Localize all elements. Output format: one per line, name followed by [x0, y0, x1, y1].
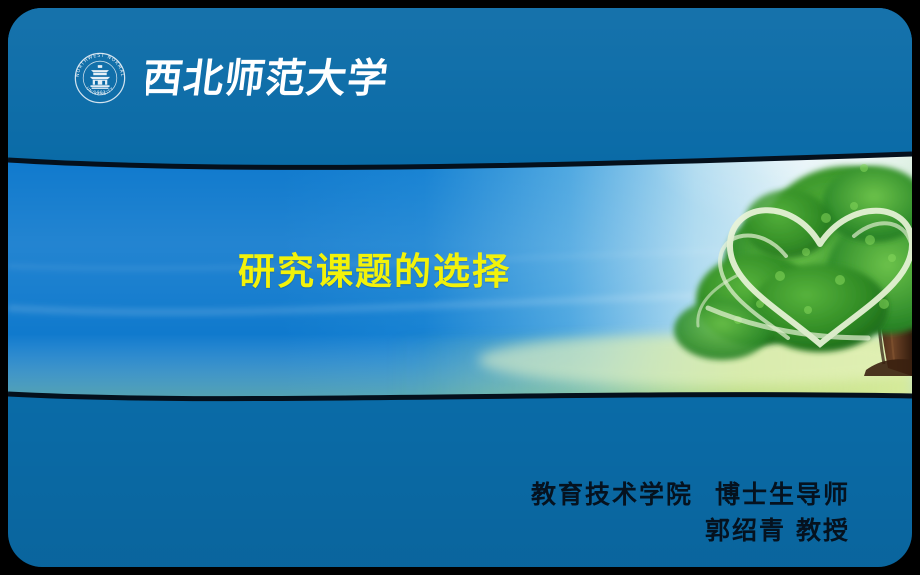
university-wordmark: 西北师范大学: [146, 50, 396, 106]
wordmark-text: 西北师范大学: [146, 56, 391, 102]
credits-department: 教育技术学院: [531, 480, 693, 509]
seal-year-text: 1902: [94, 90, 106, 95]
credits-role: 博士生导师: [715, 480, 850, 509]
band-artwork: [8, 58, 912, 428]
wordmark-svg: 西北师范大学: [146, 50, 396, 106]
credits-title: 教授: [796, 516, 850, 545]
university-seal-icon: NORTHWEST NORMAL UNIVERSITY: [72, 50, 128, 106]
university-logo: NORTHWEST NORMAL UNIVERSITY: [72, 44, 396, 112]
presentation-slide: NORTHWEST NORMAL UNIVERSITY: [0, 0, 920, 575]
slide-credits: 教育技术学院博士生导师 郭绍青教授: [531, 477, 850, 550]
credits-name: 郭绍青: [705, 516, 786, 545]
credits-line-1: 教育技术学院博士生导师: [531, 477, 850, 513]
seal-svg: NORTHWEST NORMAL UNIVERSITY: [72, 50, 128, 106]
slide-card: NORTHWEST NORMAL UNIVERSITY: [8, 8, 912, 567]
credits-line-2: 郭绍青教授: [531, 513, 850, 549]
seal-gate-emblem: [90, 65, 110, 89]
slide-title: 研究课题的选择: [238, 251, 511, 292]
